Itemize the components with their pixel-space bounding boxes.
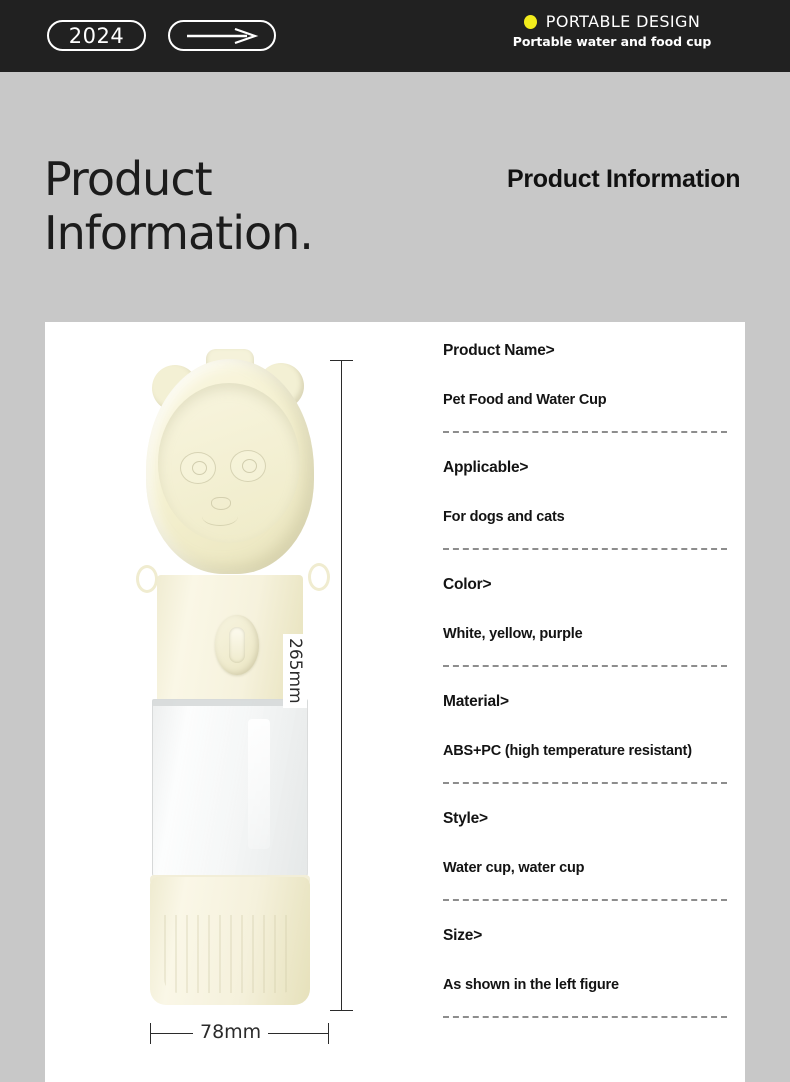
spec-value: As shown in the left figure (443, 975, 727, 995)
spec-value: Water cup, water cup (443, 858, 727, 878)
year-badge-label: 2024 (69, 24, 124, 48)
yellow-dot-icon (524, 15, 537, 29)
spec-label: Size> (443, 927, 727, 945)
height-dimension-line (341, 360, 342, 1010)
spec-separator (443, 1016, 727, 1018)
spec-list: Product Name> Pet Food and Water Cup App… (443, 342, 727, 1044)
spec-value: ABS+PC (high temperature resistant) (443, 741, 727, 761)
product-info-card: 265mm 78mm Product Name> Pet Food and Wa… (45, 322, 745, 1082)
spec-label: Applicable> (443, 459, 727, 477)
strap-loop-left (136, 565, 158, 593)
spec-label: Style> (443, 810, 727, 828)
page-title: Product Information. (44, 152, 313, 260)
spec-row-material: Material> ABS+PC (high temperature resis… (443, 693, 727, 782)
year-badge: 2024 (47, 20, 146, 51)
arrow-badge (168, 20, 276, 51)
arrow-right-icon (185, 28, 259, 44)
panda-pupil-right (242, 459, 257, 473)
spec-separator (443, 548, 727, 550)
spec-value: Pet Food and Water Cup (443, 390, 727, 410)
base-ribbing (164, 915, 296, 993)
spec-label: Product Name> (443, 342, 727, 360)
panda-mouth-icon (202, 507, 238, 526)
spec-row-product-name: Product Name> Pet Food and Water Cup (443, 342, 727, 431)
width-dimension-cap-left (150, 1023, 151, 1044)
spec-row-applicable: Applicable> For dogs and cats (443, 459, 727, 548)
spec-row-size: Size> As shown in the left figure (443, 927, 727, 1016)
spec-label: Color> (443, 576, 727, 594)
top-banner: 2024 PORTABLE DESIGN Portable water and … (0, 0, 790, 72)
spec-separator (443, 782, 727, 784)
height-dimension-cap-bottom (330, 1010, 353, 1011)
spec-separator (443, 431, 727, 433)
spec-value: White, yellow, purple (443, 624, 727, 644)
transparent-chamber (152, 699, 308, 887)
width-dimension-label: 78mm (193, 1021, 268, 1043)
spec-label: Material> (443, 693, 727, 711)
brand-block: PORTABLE DESIGN Portable water and food … (462, 12, 762, 49)
width-dimension-cap-right (328, 1023, 329, 1044)
spec-separator (443, 899, 727, 901)
height-dimension-cap-top (330, 360, 353, 361)
section-title: Product Information (507, 165, 740, 194)
brand-subtitle: Portable water and food cup (462, 34, 762, 49)
release-button-slot (229, 627, 245, 663)
brand-title-row: PORTABLE DESIGN (462, 12, 762, 31)
spec-separator (443, 665, 727, 667)
spec-row-style: Style> Water cup, water cup (443, 810, 727, 899)
spec-value: For dogs and cats (443, 507, 727, 527)
panda-pupil-left (192, 461, 207, 475)
strap-loop-right (308, 563, 330, 591)
spec-row-color: Color> White, yellow, purple (443, 576, 727, 665)
chamber-highlight (248, 719, 270, 849)
brand-title: PORTABLE DESIGN (546, 12, 700, 31)
height-dimension-label: 265mm (283, 634, 307, 708)
